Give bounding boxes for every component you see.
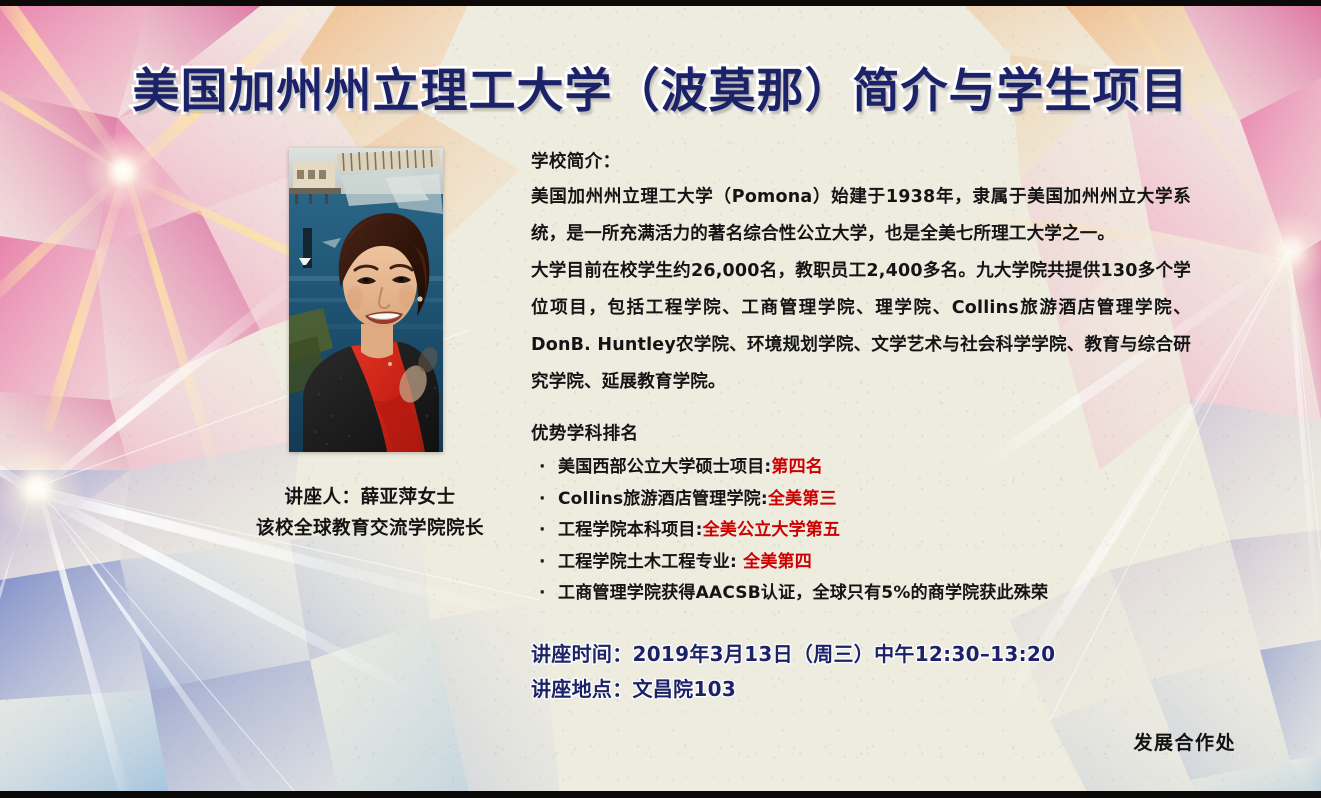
event-place-label: 讲座地点： [531, 677, 633, 701]
ranking-label: 工程学院本科项目: [558, 520, 703, 540]
ranking-value: 全美第三 [768, 489, 837, 509]
ranking-label: 工商管理学院获得AACSB认证，全球只有5%的商学院获此殊荣 [558, 583, 1048, 603]
speaker-title: 该校全球教育交流学院院长 [210, 513, 530, 544]
list-item: · 美国西部公立大学硕士项目:第四名 [531, 452, 1191, 484]
ranking-label: 美国西部公立大学硕士项目: [558, 457, 771, 477]
intro-paragraph-1: 美国加州州立理工大学（Pomona）始建于1938年，隶属于美国加州州立大学系统… [531, 179, 1191, 253]
ranking-value: 全美第四 [743, 552, 812, 572]
speaker-name: 讲座人：薛亚萍女士 [210, 482, 530, 513]
event-place-value: 文昌院103 [633, 677, 737, 701]
bullet-icon: · [539, 578, 546, 610]
poster-canvas: 美国加州州立理工大学（波莫那）简介与学生项目 [0, 0, 1321, 798]
rankings-list: · 美国西部公立大学硕士项目:第四名 · Collins旅游酒店管理学院:全美第… [531, 452, 1191, 610]
footer-organization: 发展合作处 [1133, 728, 1236, 755]
bullet-icon: · [539, 452, 546, 484]
list-item: · 工程学院本科项目:全美公立大学第五 [531, 515, 1191, 547]
ranking-value: 第四名 [771, 457, 823, 477]
intro-paragraph-2: 大学目前在校学生约26,000名，教职员工2,400多名。九大学院共提供130多… [531, 253, 1191, 401]
rankings-block: 优势学科排名 · 美国西部公立大学硕士项目:第四名 · Collins旅游酒店管… [531, 420, 1191, 610]
event-time-label: 讲座时间： [531, 642, 633, 666]
list-item: · 工程学院土木工程专业: 全美第四 [531, 547, 1191, 579]
bullet-icon: · [539, 547, 546, 579]
body-column: 学校简介： 美国加州州立理工大学（Pomona）始建于1938年，隶属于美国加州… [531, 148, 1191, 708]
ranking-label: Collins旅游酒店管理学院: [558, 489, 768, 509]
event-time-value: 2019年3月13日（周三）中午12:30–13:20 [633, 642, 1056, 666]
speaker-portrait-photo [289, 148, 443, 452]
event-time-row: 讲座时间：2019年3月13日（周三）中午12:30–13:20 [531, 638, 1191, 671]
event-place-row: 讲座地点：文昌院103 [531, 673, 1191, 706]
ranking-value: 全美公立大学第五 [703, 520, 841, 540]
list-item: · 工商管理学院获得AACSB认证，全球只有5%的商学院获此殊荣 [531, 578, 1191, 610]
ranking-label: 工程学院土木工程专业: [558, 552, 743, 572]
bullet-icon: · [539, 515, 546, 547]
page-title: 美国加州州立理工大学（波莫那）简介与学生项目 [133, 52, 1189, 121]
speaker-caption: 讲座人：薛亚萍女士 该校全球教育交流学院院长 [210, 482, 530, 544]
event-info-block: 讲座时间：2019年3月13日（周三）中午12:30–13:20 讲座地点：文昌… [531, 638, 1191, 706]
intro-heading: 学校简介： [531, 148, 1191, 173]
bullet-icon: · [539, 484, 546, 516]
list-item: · Collins旅游酒店管理学院:全美第三 [531, 484, 1191, 516]
title-bar: 美国加州州立理工大学（波莫那）简介与学生项目 [0, 52, 1321, 121]
rankings-heading: 优势学科排名 [531, 420, 1191, 445]
